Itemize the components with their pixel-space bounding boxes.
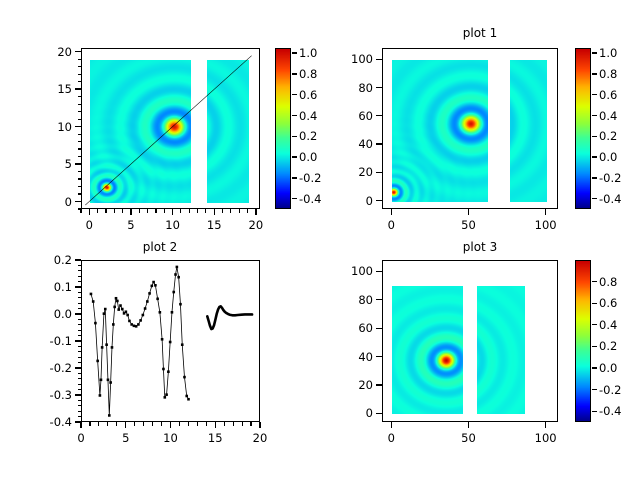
- series-marker: [176, 266, 179, 269]
- x-tick-label: 10: [163, 431, 178, 445]
- axis-tick: [105, 209, 106, 213]
- axis-tick: [80, 422, 81, 428]
- series-marker: [152, 281, 155, 284]
- axis-tick: [179, 422, 180, 426]
- plot-frame[interactable]: [382, 48, 558, 209]
- y-tick-label: -0.2: [0, 361, 72, 375]
- x-tick-label: 0: [86, 218, 93, 232]
- colorbar-tick-label: 0.2: [599, 129, 617, 143]
- axis-tick: [172, 209, 173, 215]
- y-tick-label: 15: [0, 82, 72, 96]
- axis-tick: [155, 209, 156, 213]
- axis-tick: [78, 384, 82, 385]
- series-marker: [187, 398, 190, 401]
- panel-title: plot 3: [320, 240, 640, 254]
- axis-tick: [75, 51, 81, 52]
- series-marker: [121, 308, 124, 311]
- panel-title: plot 2: [0, 240, 320, 254]
- series-marker: [174, 273, 177, 276]
- series-marker: [185, 395, 188, 398]
- axis-tick: [78, 111, 82, 112]
- axis-tick: [233, 422, 234, 426]
- axis-tick: [592, 389, 597, 390]
- y-tick-label: 20: [320, 378, 373, 392]
- y-tick-label: 60: [320, 321, 373, 335]
- axis-tick: [592, 303, 597, 304]
- series-marker: [101, 346, 104, 349]
- axis-tick: [592, 52, 597, 53]
- series-marker: [111, 346, 114, 349]
- axis-tick: [78, 141, 82, 142]
- axis-tick: [78, 411, 82, 412]
- axis-tick: [376, 172, 382, 173]
- series-marker: [163, 396, 166, 399]
- x-tick-label: 0: [388, 431, 395, 445]
- series-marker: [135, 325, 138, 328]
- line-series-plot: [82, 261, 260, 422]
- colorbar: [575, 260, 591, 422]
- axis-tick: [376, 115, 382, 116]
- panel-top-left: 05101520051015201.00.80.60.40.20.0-0.2-0…: [0, 0, 320, 240]
- axis-tick: [180, 209, 181, 213]
- axis-tick: [98, 422, 99, 426]
- series-marker: [109, 381, 112, 384]
- colorbar-tick-label: -0.2: [599, 383, 621, 397]
- axis-tick: [75, 88, 81, 89]
- axis-tick: [224, 422, 225, 426]
- series-marker: [116, 300, 119, 303]
- colorbar-tick-label: 0.6: [299, 88, 317, 102]
- axis-tick: [376, 299, 382, 300]
- axis-tick: [78, 303, 82, 304]
- series-marker: [151, 285, 154, 288]
- colorbar-tick-label: 0.2: [299, 129, 317, 143]
- y-tick-label: 0: [320, 194, 373, 208]
- y-tick-label: 0.1: [0, 280, 72, 294]
- axis-tick: [592, 411, 597, 412]
- colorbar-tick-label: -0.2: [599, 171, 621, 185]
- y-tick-label: -0.1: [0, 334, 72, 348]
- axis-tick: [75, 201, 81, 202]
- axis-tick: [107, 422, 108, 426]
- axis-tick: [78, 324, 82, 325]
- axis-tick: [75, 421, 81, 422]
- series-marker: [128, 320, 131, 323]
- colorbar-tick-label: 0.0: [599, 361, 617, 375]
- axis-tick: [239, 209, 240, 213]
- series-marker: [119, 304, 122, 307]
- series-marker: [137, 323, 140, 326]
- series-marker: [183, 376, 186, 379]
- axis-tick: [78, 134, 82, 135]
- y-tick-label: 100: [320, 52, 373, 66]
- colorbar-tick-label: 1.0: [599, 46, 617, 60]
- axis-tick: [197, 209, 198, 213]
- axis-tick: [292, 156, 297, 157]
- axis-tick: [78, 308, 82, 309]
- panel-title: plot 1: [320, 26, 640, 40]
- axis-tick: [152, 422, 153, 426]
- colorbar-tick-label: 1.0: [299, 46, 317, 60]
- axis-tick: [78, 362, 82, 363]
- axis-tick: [592, 281, 597, 282]
- axis-tick: [247, 209, 248, 213]
- colorbar: [275, 48, 291, 209]
- series-marker: [117, 308, 120, 311]
- y-tick-label: 40: [320, 137, 373, 151]
- axis-tick: [78, 81, 82, 82]
- y-tick-label: 20: [0, 45, 72, 59]
- axis-tick: [75, 286, 81, 287]
- colorbar-tick-label: 0.4: [599, 109, 617, 123]
- series-marker: [92, 300, 95, 303]
- y-tick-label: 0.2: [0, 253, 72, 267]
- colorbar-tick-label: 0.6: [599, 296, 617, 310]
- axis-tick: [125, 422, 126, 428]
- axis-tick: [164, 209, 165, 213]
- series-marker: [177, 276, 180, 279]
- colorbar-tick-label: 0.0: [599, 150, 617, 164]
- axis-tick: [592, 156, 597, 157]
- axis-tick: [259, 422, 260, 428]
- y-tick-label: 0: [320, 406, 373, 420]
- series-marker: [146, 300, 149, 303]
- axis-tick: [188, 422, 189, 426]
- y-tick-label: 10: [0, 120, 72, 134]
- axis-tick: [89, 422, 90, 426]
- axis-tick: [78, 74, 82, 75]
- series-marker: [172, 291, 175, 294]
- axis-tick: [292, 177, 297, 178]
- axis-tick: [78, 319, 82, 320]
- series-marker: [169, 341, 172, 344]
- axis-tick: [78, 335, 82, 336]
- axis-tick: [78, 265, 82, 266]
- axis-tick: [592, 136, 597, 137]
- axis-tick: [592, 94, 597, 95]
- axis-tick: [376, 413, 382, 414]
- panel-bottom-left: plot 2 051015200.20.10.0-0.1-0.2-0.3-0.4: [0, 240, 320, 480]
- colorbar-tick-label: 0.2: [599, 339, 617, 353]
- axis-tick: [78, 186, 82, 187]
- y-tick-label: 0: [0, 195, 72, 209]
- axis-tick: [116, 422, 117, 426]
- axis-tick: [292, 136, 297, 137]
- series-marker: [103, 312, 106, 315]
- colorbar: [575, 48, 591, 209]
- axis-tick: [255, 209, 256, 215]
- y-tick-label: -0.4: [0, 415, 72, 429]
- x-tick-label: 5: [127, 218, 134, 232]
- series-marker: [104, 308, 107, 311]
- axis-tick: [78, 59, 82, 60]
- panel-bottom-right: plot 3 0501000204060801000.80.60.40.20.0…: [320, 240, 640, 480]
- series-marker: [181, 343, 184, 346]
- axis-tick: [122, 209, 123, 213]
- axis-tick: [78, 389, 82, 390]
- x-tick-label: 0: [388, 218, 395, 232]
- colorbar-tick-label: 0.8: [599, 67, 617, 81]
- series-marker: [96, 360, 99, 363]
- axis-tick: [376, 143, 382, 144]
- axis-tick: [78, 416, 82, 417]
- series-line: [91, 267, 189, 416]
- series-marker: [130, 323, 133, 326]
- axis-tick: [545, 422, 546, 428]
- axis-tick: [78, 351, 82, 352]
- series-marker: [125, 310, 128, 313]
- y-tick-label: 80: [320, 293, 373, 307]
- axis-tick: [114, 209, 115, 213]
- axis-tick: [78, 96, 82, 97]
- y-tick-label: -0.3: [0, 388, 72, 402]
- series-marker: [133, 325, 136, 328]
- x-tick-label: 10: [165, 218, 180, 232]
- axis-tick: [75, 313, 81, 314]
- series-marker: [139, 319, 142, 322]
- colorbar-tick-label: 0.6: [599, 88, 617, 102]
- axis-tick: [376, 328, 382, 329]
- axis-tick: [376, 356, 382, 357]
- axis-tick: [292, 94, 297, 95]
- series-marker: [113, 306, 116, 309]
- y-tick-label: 20: [320, 165, 373, 179]
- colorbar-tick-label: -0.4: [299, 192, 321, 206]
- y-tick-label: 100: [320, 264, 373, 278]
- heatmap-image: [383, 261, 558, 422]
- axis-tick: [170, 422, 171, 428]
- axis-tick: [545, 209, 546, 215]
- series-marker: [171, 311, 174, 314]
- axis-tick: [78, 66, 82, 67]
- y-tick-label: 40: [320, 350, 373, 364]
- axis-tick: [78, 346, 82, 347]
- axis-tick: [391, 422, 392, 428]
- colorbar-tick-label: 0.4: [599, 318, 617, 332]
- axis-tick: [75, 340, 81, 341]
- axis-tick: [78, 171, 82, 172]
- axis-tick: [292, 73, 297, 74]
- series-marker: [159, 311, 162, 314]
- x-tick-label: 50: [461, 218, 476, 232]
- series-marker: [126, 314, 129, 317]
- figure-canvas: 05101520051015201.00.80.60.40.20.0-0.2-0…: [0, 0, 640, 480]
- series-marker: [167, 370, 170, 373]
- axis-tick: [78, 270, 82, 271]
- colorbar-tick-label: 0.8: [599, 275, 617, 289]
- series-marker: [99, 394, 102, 397]
- axis-tick: [78, 193, 82, 194]
- heatmap-image: [82, 49, 260, 209]
- axis-tick: [78, 148, 82, 149]
- axis-tick: [376, 200, 382, 201]
- axis-tick: [75, 367, 81, 368]
- axis-tick: [206, 422, 207, 426]
- axis-tick: [592, 73, 597, 74]
- series-marker: [115, 297, 118, 300]
- axis-tick: [376, 384, 382, 385]
- axis-tick: [78, 276, 82, 277]
- axis-tick: [468, 422, 469, 428]
- series-marker: [144, 307, 147, 310]
- axis-tick: [250, 422, 251, 426]
- colorbar-tick-label: -0.4: [599, 192, 621, 206]
- axis-tick: [592, 198, 597, 199]
- colorbar-tick-label: -0.4: [599, 404, 621, 418]
- series-marker: [161, 338, 164, 341]
- x-tick-label: 50: [461, 431, 476, 445]
- series-marker: [112, 323, 115, 326]
- axis-tick: [78, 330, 82, 331]
- axis-tick: [376, 59, 382, 60]
- axis-tick: [222, 209, 223, 213]
- plot-frame[interactable]: [81, 48, 260, 209]
- axis-tick: [75, 163, 81, 164]
- y-tick-label: 5: [0, 157, 72, 171]
- axis-tick: [78, 281, 82, 282]
- axis-tick: [376, 271, 382, 272]
- axis-tick: [78, 119, 82, 120]
- axis-tick: [592, 346, 597, 347]
- axis-tick: [292, 52, 297, 53]
- series-marker: [107, 379, 110, 382]
- axis-tick: [292, 198, 297, 199]
- series-line: [207, 306, 252, 329]
- axis-tick: [78, 405, 82, 406]
- series-marker: [165, 393, 168, 396]
- x-tick-label: 100: [535, 431, 557, 445]
- axis-tick: [592, 115, 597, 116]
- axis-tick: [391, 209, 392, 215]
- axis-tick: [78, 292, 82, 293]
- series-marker: [100, 379, 103, 382]
- axis-tick: [78, 400, 82, 401]
- axis-tick: [78, 156, 82, 157]
- axis-tick: [468, 209, 469, 215]
- series-marker: [156, 298, 159, 301]
- colorbar-tick-label: 0.4: [299, 109, 317, 123]
- x-tick-label: 15: [207, 218, 222, 232]
- series-marker: [90, 293, 93, 296]
- axis-tick: [139, 209, 140, 213]
- axis-tick: [75, 126, 81, 127]
- axis-tick: [78, 357, 82, 358]
- colorbar-tick-label: 0.8: [299, 67, 317, 81]
- y-tick-label: 0.0: [0, 307, 72, 321]
- axis-tick: [143, 422, 144, 426]
- axis-tick: [75, 259, 81, 260]
- axis-tick: [78, 178, 82, 179]
- axis-tick: [292, 115, 297, 116]
- series-marker: [148, 292, 151, 295]
- y-tick-label: 60: [320, 109, 373, 123]
- axis-tick: [214, 209, 215, 215]
- axis-tick: [242, 422, 243, 426]
- x-tick-label: 15: [208, 431, 223, 445]
- axis-tick: [130, 209, 131, 215]
- x-tick-label: 20: [253, 431, 268, 445]
- series-marker: [142, 314, 145, 317]
- axis-tick: [161, 422, 162, 426]
- series-marker: [179, 303, 182, 306]
- axis-tick: [78, 104, 82, 105]
- axis-tick: [78, 297, 82, 298]
- axis-tick: [134, 422, 135, 426]
- x-tick-label: 20: [249, 218, 264, 232]
- axis-tick: [230, 209, 231, 213]
- axis-tick: [78, 378, 82, 379]
- x-tick-label: 0: [77, 431, 84, 445]
- series-marker: [94, 322, 97, 325]
- axis-tick: [78, 208, 82, 209]
- axis-tick: [97, 209, 98, 213]
- colorbar-tick-label: -0.2: [299, 171, 321, 185]
- x-tick-label: 5: [122, 431, 129, 445]
- axis-tick: [189, 209, 190, 213]
- axis-tick: [592, 177, 597, 178]
- heatmap-image: [383, 49, 558, 209]
- plot-frame[interactable]: [81, 260, 260, 422]
- series-marker: [162, 368, 165, 371]
- y-tick-label: 80: [320, 81, 373, 95]
- axis-tick: [592, 324, 597, 325]
- axis-tick: [197, 422, 198, 426]
- plot-frame[interactable]: [382, 260, 558, 422]
- series-marker: [105, 343, 108, 346]
- axis-tick: [376, 87, 382, 88]
- series-marker: [108, 414, 111, 417]
- series-marker: [154, 284, 157, 287]
- axis-tick: [147, 209, 148, 213]
- x-tick-label: 100: [535, 218, 557, 232]
- axis-tick: [78, 373, 82, 374]
- axis-tick: [75, 394, 81, 395]
- colorbar-tick-label: 0.0: [299, 150, 317, 164]
- axis-tick: [215, 422, 216, 428]
- axis-tick: [205, 209, 206, 213]
- axis-tick: [89, 209, 90, 215]
- panel-top-right: plot 1 0501000204060801001.00.80.60.40.2…: [320, 0, 640, 240]
- axis-tick: [592, 367, 597, 368]
